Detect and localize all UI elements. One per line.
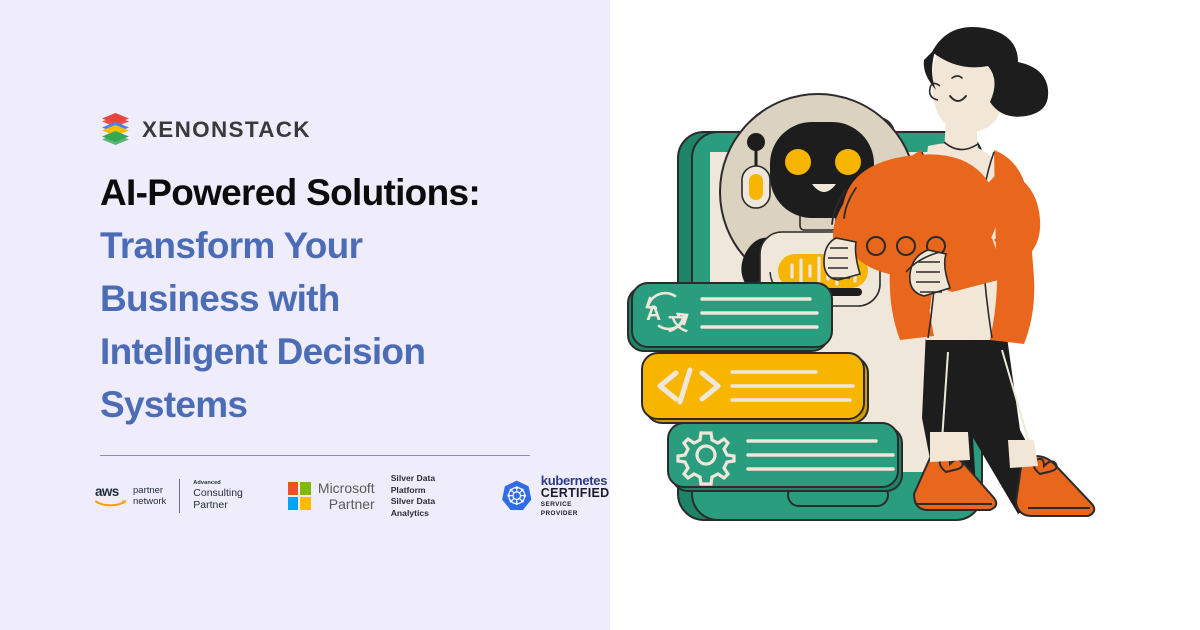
kubernetes-line-2: CERTIFIED bbox=[541, 487, 610, 500]
microsoft-name-line-1: Microsoft bbox=[318, 480, 375, 496]
microsoft-logo-icon bbox=[288, 482, 311, 510]
feature-card-settings bbox=[668, 423, 902, 491]
microsoft-partner-badge: Microsoft Partner Silver Data Platform S… bbox=[288, 473, 460, 519]
aws-wordmark: aws bbox=[95, 486, 119, 498]
left-content-panel: XENONSTACK AI-Powered Solutions: Transfo… bbox=[0, 0, 610, 630]
aws-pn-line-2: network bbox=[133, 496, 166, 507]
kubernetes-partner-badge: kubernetes CERTIFIED SERVICE PROVIDER bbox=[500, 474, 610, 518]
headline-line-5: Systems bbox=[100, 378, 570, 431]
headline-line-1: AI-Powered Solutions: bbox=[100, 166, 570, 219]
ai-assistant-illustration: A 文 bbox=[610, 0, 1200, 630]
partner-badges: aws partner network Advanced Consulting … bbox=[95, 473, 610, 519]
aws-tier-line-1: Consulting bbox=[193, 487, 243, 499]
kubernetes-wordmark: kubernetes CERTIFIED SERVICE PROVIDER bbox=[541, 474, 610, 518]
antenna-icon bbox=[747, 133, 765, 151]
aws-tier-line-2: Partner bbox=[193, 499, 243, 511]
aws-partner-badge: aws partner network Advanced Consulting … bbox=[95, 479, 243, 513]
headline-line-3: Business with bbox=[100, 272, 570, 325]
svg-text:文: 文 bbox=[668, 311, 689, 335]
brand-name: XENONSTACK bbox=[142, 119, 311, 142]
kubernetes-helm-icon bbox=[500, 479, 533, 513]
brand-logo[interactable]: XENONSTACK bbox=[100, 112, 311, 148]
aws-tier-text: Advanced Consulting Partner bbox=[193, 481, 243, 511]
robot-eye-right bbox=[835, 149, 861, 175]
aws-pn-line-1: partner bbox=[133, 485, 163, 496]
microsoft-competencies: Silver Data Platform Silver Data Analyti… bbox=[391, 473, 461, 519]
right-illustration-panel: A 文 bbox=[610, 0, 1200, 630]
page-title: AI-Powered Solutions: Transform Your Bus… bbox=[100, 166, 570, 431]
aws-partner-network-text: partner network bbox=[133, 485, 166, 508]
microsoft-competency-2: Silver Data Analytics bbox=[391, 496, 461, 519]
robot-eye-left bbox=[785, 149, 811, 175]
aws-divider bbox=[179, 479, 180, 513]
stacked-layers-icon bbox=[100, 112, 131, 148]
divider bbox=[100, 455, 530, 456]
microsoft-name-line-2: Partner bbox=[318, 496, 375, 512]
kubernetes-line-3: SERVICE PROVIDER bbox=[541, 500, 610, 518]
microsoft-competency-1: Silver Data Platform bbox=[391, 473, 461, 496]
aws-smile-icon bbox=[95, 499, 127, 507]
headline-line-2: Transform Your bbox=[100, 219, 570, 272]
svg-text:A: A bbox=[646, 302, 661, 325]
banner-root: XENONSTACK AI-Powered Solutions: Transfo… bbox=[0, 0, 1200, 630]
feature-card-translate: A 文 bbox=[628, 283, 832, 351]
headline-line-4: Intelligent Decision bbox=[100, 325, 570, 378]
feature-card-code bbox=[642, 353, 868, 423]
microsoft-wordmark: Microsoft Partner bbox=[318, 480, 375, 512]
aws-logo-icon: aws bbox=[95, 486, 127, 507]
